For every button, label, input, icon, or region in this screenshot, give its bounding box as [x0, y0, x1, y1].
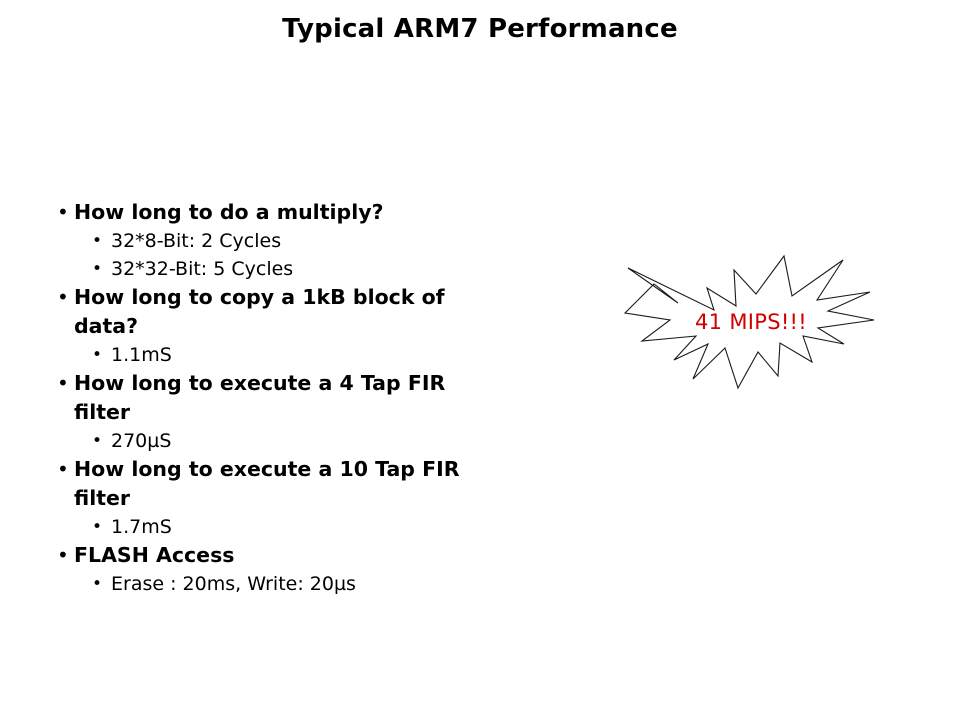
- bullet-marker-icon: •: [48, 541, 74, 570]
- list-item-label: FLASH Access: [74, 541, 234, 570]
- callout-label: 41 MIPS!!!: [612, 248, 884, 396]
- bullet-marker-icon: •: [48, 455, 74, 484]
- list-item: • How long to do a multiply?: [48, 198, 518, 227]
- bullet-marker-icon: •: [85, 227, 111, 255]
- bullet-marker-icon: •: [85, 255, 111, 283]
- callout-explosion: 41 MIPS!!!: [612, 248, 884, 396]
- list-item: • 1.7mS: [48, 513, 518, 541]
- list-item: • How long to execute a 4 Tap FIR filter: [48, 369, 518, 427]
- list-item: • FLASH Access: [48, 541, 518, 570]
- list-item-label: How long to execute a 10 Tap FIR filter: [74, 455, 484, 513]
- list-item: • Erase : 20ms, Write: 20µs: [48, 570, 518, 598]
- slide-canvas: Typical ARM7 Performance • How long to d…: [0, 0, 960, 720]
- bullet-marker-icon: •: [85, 341, 111, 369]
- list-item: • 32*32-Bit: 5 Cycles: [48, 255, 518, 283]
- list-item-label: 270µS: [111, 427, 171, 455]
- list-item: • How long to copy a 1kB block of data?: [48, 283, 518, 341]
- list-item: • How long to execute a 10 Tap FIR filte…: [48, 455, 518, 513]
- page-title: Typical ARM7 Performance: [0, 14, 960, 44]
- bullet-marker-icon: •: [85, 513, 111, 541]
- list-item: • 32*8-Bit: 2 Cycles: [48, 227, 518, 255]
- list-item-label: 1.1mS: [111, 341, 172, 369]
- list-item: • 1.1mS: [48, 341, 518, 369]
- list-item-label: How long to copy a 1kB block of data?: [74, 283, 484, 341]
- list-item-label: Erase : 20ms, Write: 20µs: [111, 570, 356, 598]
- list-item-label: 32*32-Bit: 5 Cycles: [111, 255, 293, 283]
- list-item: • 270µS: [48, 427, 518, 455]
- bullet-marker-icon: •: [85, 427, 111, 455]
- list-item-label: How long to do a multiply?: [74, 198, 383, 227]
- bullet-marker-icon: •: [48, 369, 74, 398]
- bullet-marker-icon: •: [48, 283, 74, 312]
- list-item-label: 1.7mS: [111, 513, 172, 541]
- bullet-marker-icon: •: [85, 570, 111, 598]
- bullet-marker-icon: •: [48, 198, 74, 227]
- list-item-label: How long to execute a 4 Tap FIR filter: [74, 369, 484, 427]
- list-item-label: 32*8-Bit: 2 Cycles: [111, 227, 281, 255]
- bullet-list: • How long to do a multiply? • 32*8-Bit:…: [48, 198, 518, 598]
